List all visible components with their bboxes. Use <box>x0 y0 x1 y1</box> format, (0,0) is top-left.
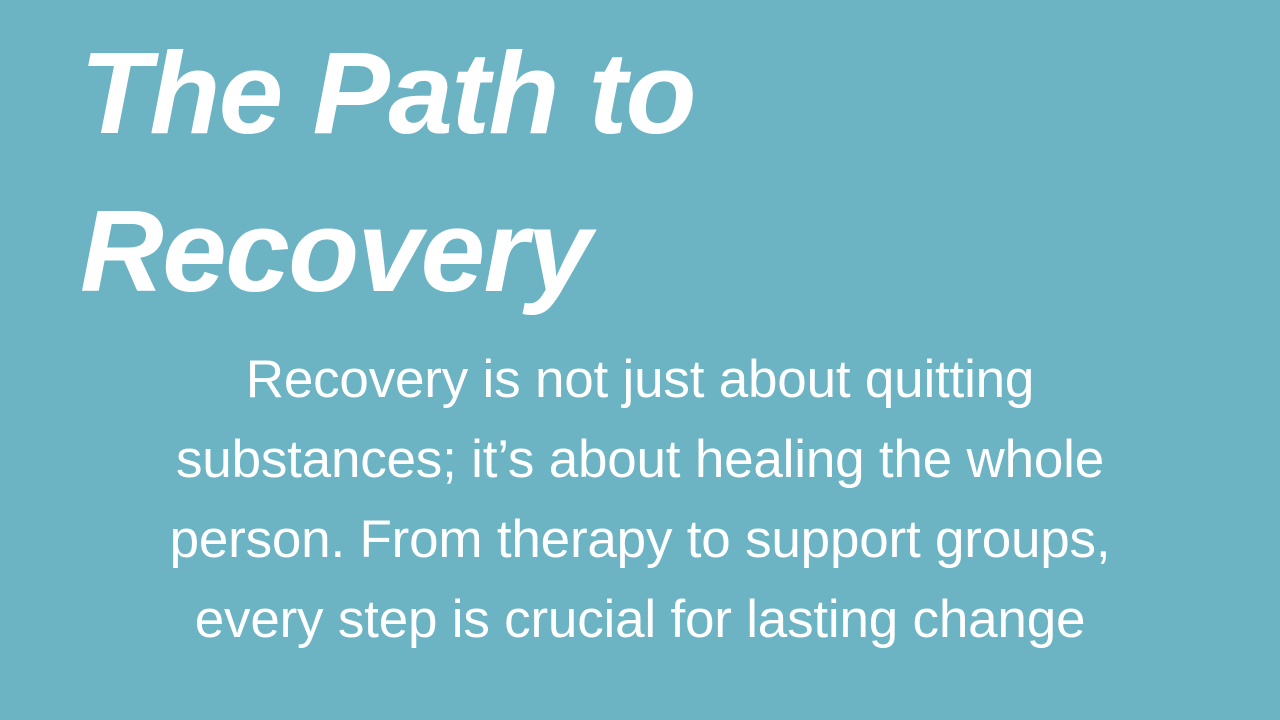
body-paragraph: Recovery is not just about quitting subs… <box>90 340 1190 660</box>
body-line-2: substances; it’s about healing the whole <box>90 420 1190 500</box>
body-line-1: Recovery is not just about quitting <box>90 340 1190 420</box>
page-title: The Path to Recovery <box>80 14 1200 330</box>
body-line-4: every step is crucial for lasting change <box>90 580 1190 660</box>
body-line-3: person. From therapy to support groups, <box>90 500 1190 580</box>
slide-canvas: The Path to Recovery Recovery is not jus… <box>0 0 1280 720</box>
